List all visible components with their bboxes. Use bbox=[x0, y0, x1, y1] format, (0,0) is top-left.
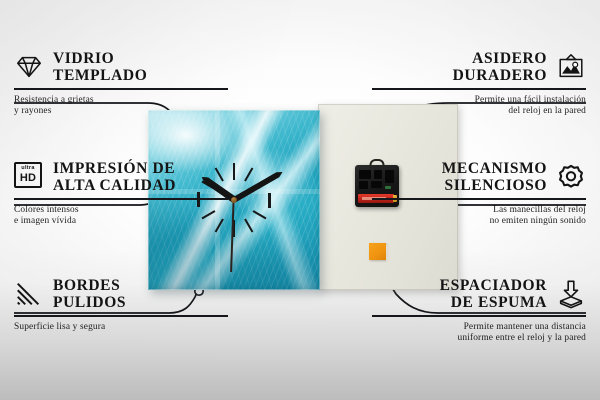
feature-divider bbox=[372, 88, 586, 90]
feature-divider bbox=[14, 198, 228, 200]
feature-desc-line2: del reloj en la pared bbox=[372, 106, 586, 118]
diamond-icon bbox=[14, 52, 44, 82]
feature-desc-line1: Las manecillas del reloj bbox=[372, 205, 586, 217]
polished-edges-icon bbox=[14, 279, 44, 309]
feature-desc-line1: Permite una fácil instalación bbox=[372, 95, 586, 107]
feature-title-line2: PULIDOS bbox=[53, 294, 126, 311]
mechanism-detail bbox=[359, 170, 371, 179]
feature-desc-line1: Superficie lisa y segura bbox=[14, 322, 228, 334]
feature-divider bbox=[14, 88, 228, 90]
feature-impresion-alta-calidad: ultra HD IMPRESIÓN DE ALTA CALIDAD Color… bbox=[14, 160, 228, 228]
feature-espaciador-de-espuma: ESPACIADOR DE ESPUMA Permite mantener un… bbox=[372, 277, 586, 345]
feature-title-line1: IMPRESIÓN DE bbox=[53, 160, 176, 177]
feature-desc-line1: Colores intensos bbox=[14, 205, 228, 217]
hanging-frame-icon bbox=[556, 52, 586, 82]
ultra-hd-icon-main: HD bbox=[20, 173, 36, 184]
mechanism-detail bbox=[359, 181, 368, 189]
feature-title-line2: DE ESPUMA bbox=[440, 294, 547, 311]
feature-title-line1: MECANISMO bbox=[442, 160, 547, 177]
foam-spacer bbox=[369, 243, 386, 260]
gear-icon bbox=[556, 162, 586, 192]
feature-divider bbox=[372, 315, 586, 317]
feature-vidrio-templado: VIDRIO TEMPLADO Resistencia a grietas y … bbox=[14, 50, 228, 118]
hand-center-cap bbox=[231, 197, 237, 203]
feature-title-line1: ASIDERO bbox=[453, 50, 547, 67]
feature-title-line2: SILENCIOSO bbox=[442, 177, 547, 194]
feature-desc-line2: uniforme entre el reloj y la pared bbox=[372, 333, 586, 345]
feature-title-line1: VIDRIO bbox=[53, 50, 147, 67]
feature-mecanismo-silencioso: MECANISMO SILENCIOSO Las manecillas del … bbox=[372, 160, 586, 228]
feature-desc-line2: y rayones bbox=[14, 106, 228, 118]
ultra-hd-icon: ultra HD bbox=[14, 162, 44, 192]
feature-bordes-pulidos: BORDES PULIDOS Superficie lisa y segura bbox=[14, 277, 228, 333]
feature-desc-line2: no emiten ningún sonido bbox=[372, 216, 586, 228]
feature-desc-line1: Resistencia a grietas bbox=[14, 95, 228, 107]
ultra-hd-icon-top: ultra bbox=[21, 166, 34, 172]
foam-spacer-icon bbox=[556, 279, 586, 309]
feature-title-line2: ALTA CALIDAD bbox=[53, 177, 176, 194]
feature-asidero-duradero: ASIDERO DURADERO Permite una fácil insta… bbox=[372, 50, 586, 118]
feature-desc-line2: e imagen vívida bbox=[14, 216, 228, 228]
feature-title-line1: ESPACIADOR bbox=[440, 277, 547, 294]
feature-title-line2: TEMPLADO bbox=[53, 67, 147, 84]
feature-title-line2: DURADERO bbox=[453, 67, 547, 84]
feature-divider bbox=[14, 315, 228, 317]
feature-desc-line1: Permite mantener una distancia bbox=[372, 322, 586, 334]
feature-divider bbox=[372, 198, 586, 200]
feature-title-line1: BORDES bbox=[53, 277, 126, 294]
